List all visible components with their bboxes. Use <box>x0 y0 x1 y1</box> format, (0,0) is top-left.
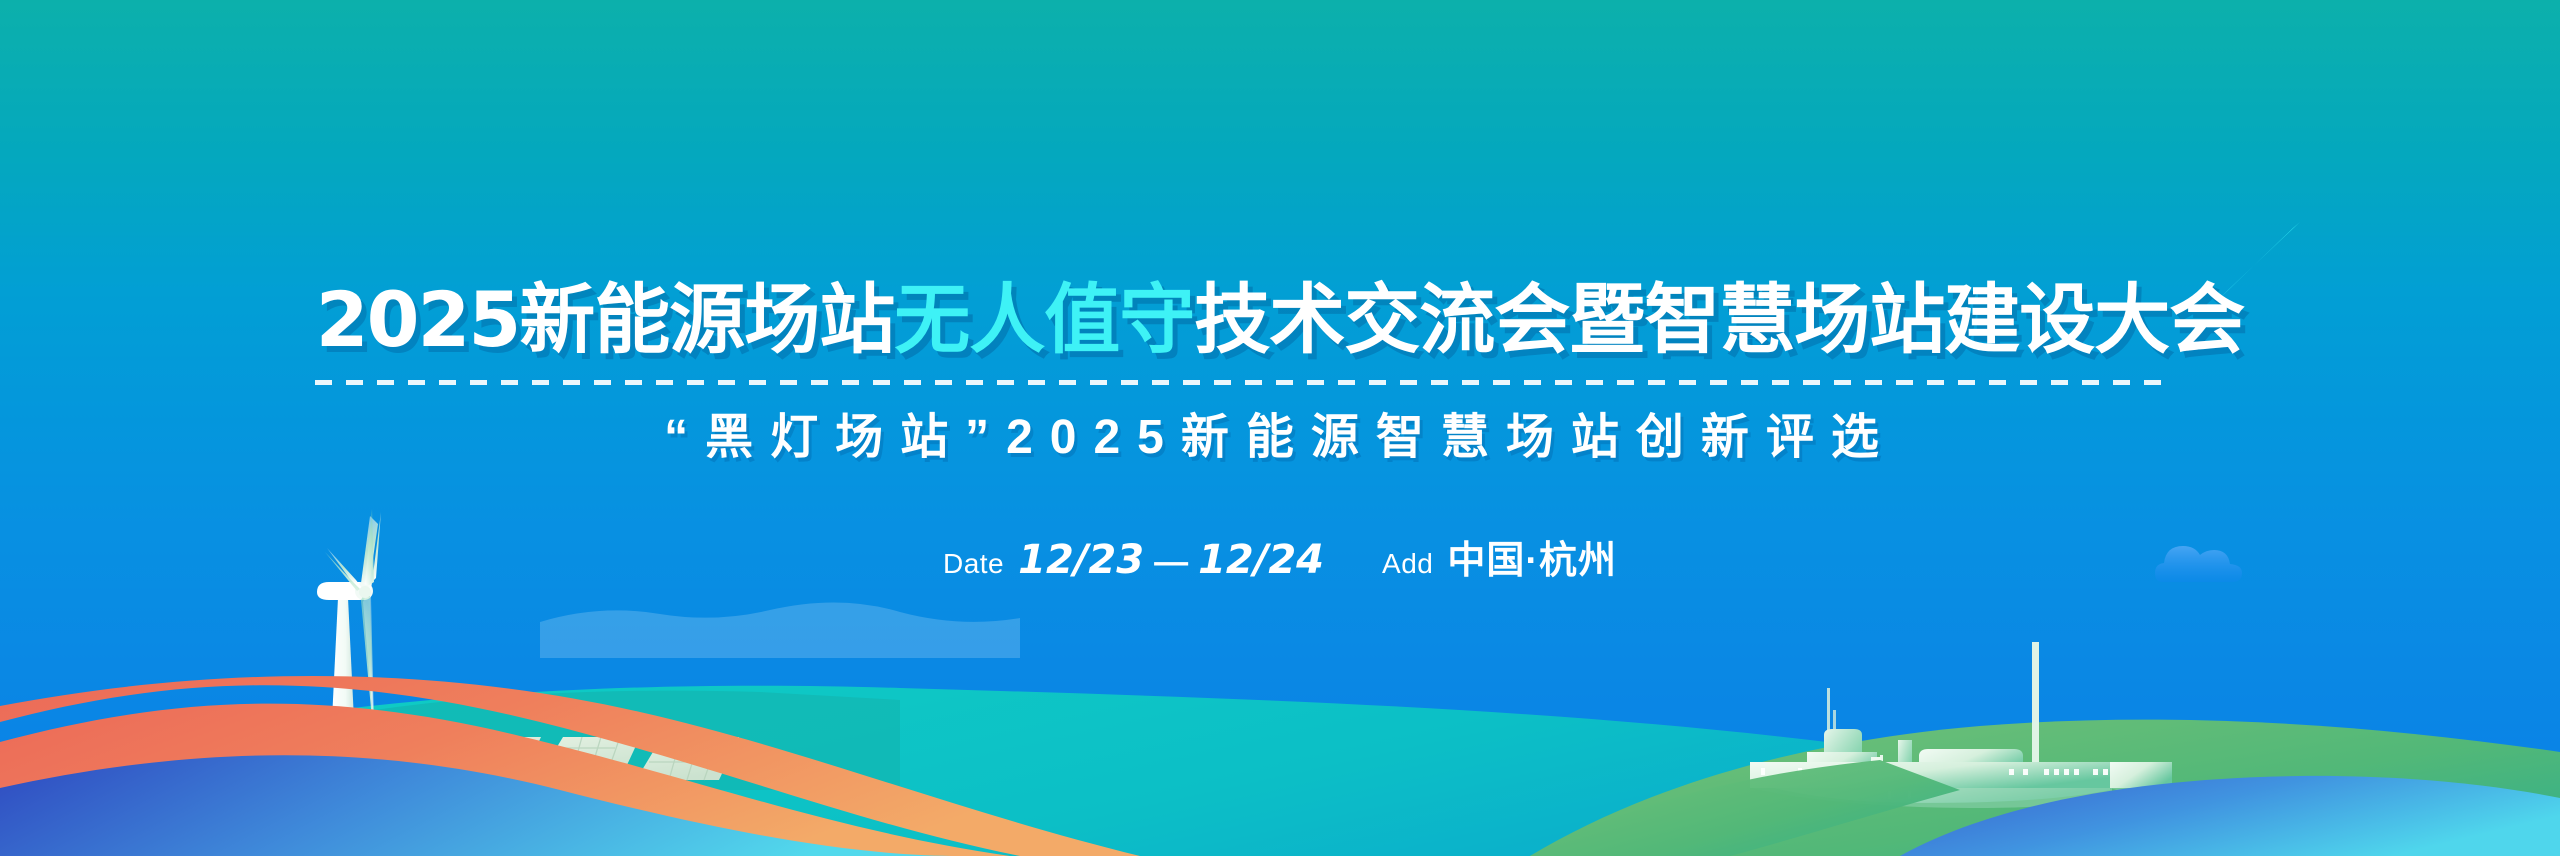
scenery-illustration <box>0 0 2560 856</box>
cloud-icon <box>2155 546 2242 582</box>
wind-turbine <box>317 509 381 740</box>
shooting-star-streak <box>2218 222 2300 300</box>
distant-mountain-silhouette <box>540 602 1020 658</box>
event-banner: 2025新能源场站无人值守技术交流会暨智慧场站建设大会 “黑灯场站”2025新能… <box>0 0 2560 856</box>
